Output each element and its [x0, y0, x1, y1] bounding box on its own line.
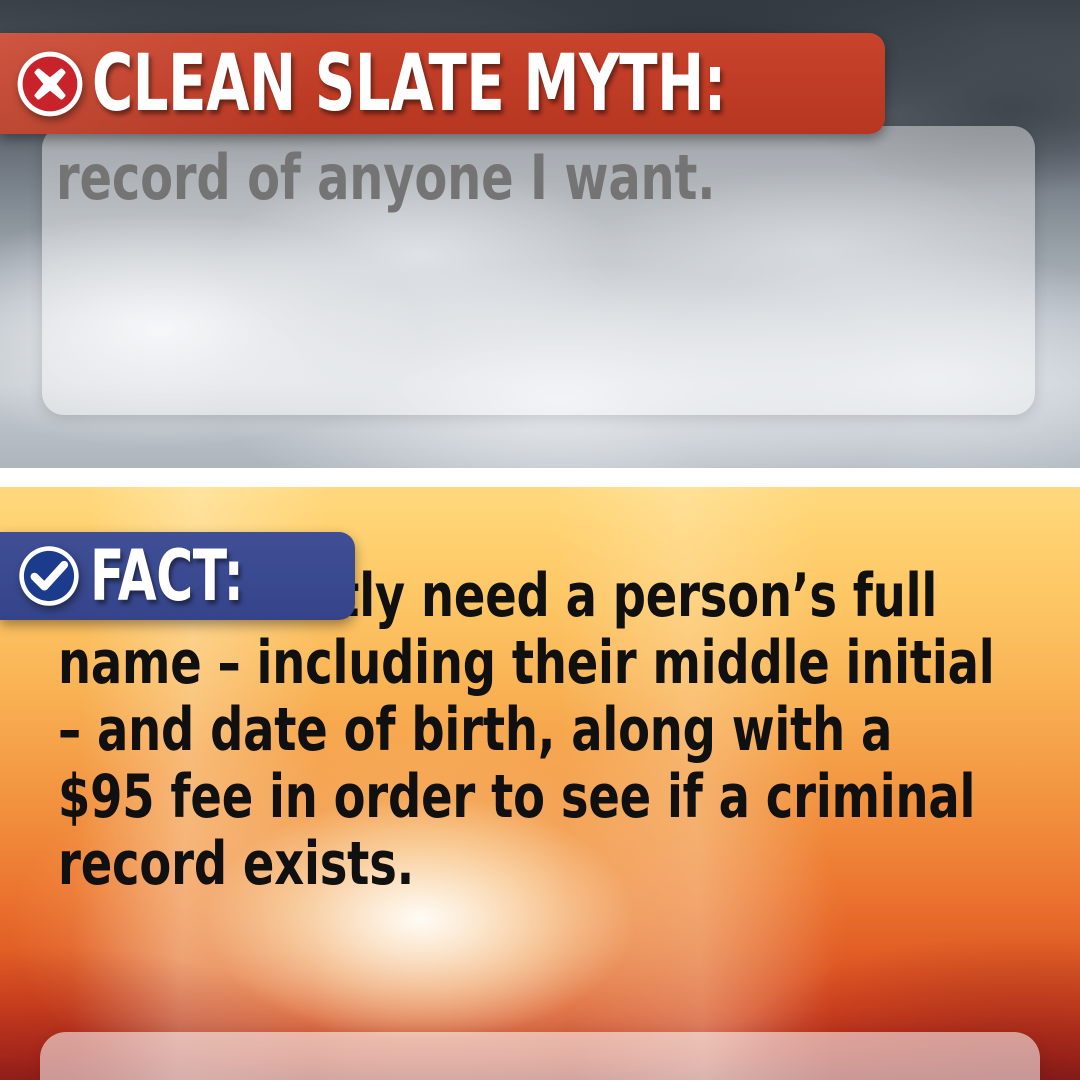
x-circle-icon [14, 48, 86, 120]
fact-body-line: $95 fee in order to see if a criminal [58, 764, 1030, 831]
fact-text-card [40, 1032, 1040, 1080]
myth-panel: CLEAN SLATE MYTH: Without this law, I ca… [0, 0, 1080, 468]
fact-body-line: name – including their middle initial [58, 630, 1030, 697]
fact-banner: FACT: [0, 532, 355, 620]
check-circle-icon [16, 543, 82, 609]
myth-banner: CLEAN SLATE MYTH: [0, 33, 885, 134]
fact-body-line: record exists. [58, 831, 1030, 898]
fact-banner-label: FACT: [90, 540, 243, 612]
fact-body-line: – and date of birth, along with a [58, 697, 1030, 764]
myth-text-card [42, 126, 1035, 415]
myth-banner-label: CLEAN SLATE MYTH: [92, 44, 726, 124]
